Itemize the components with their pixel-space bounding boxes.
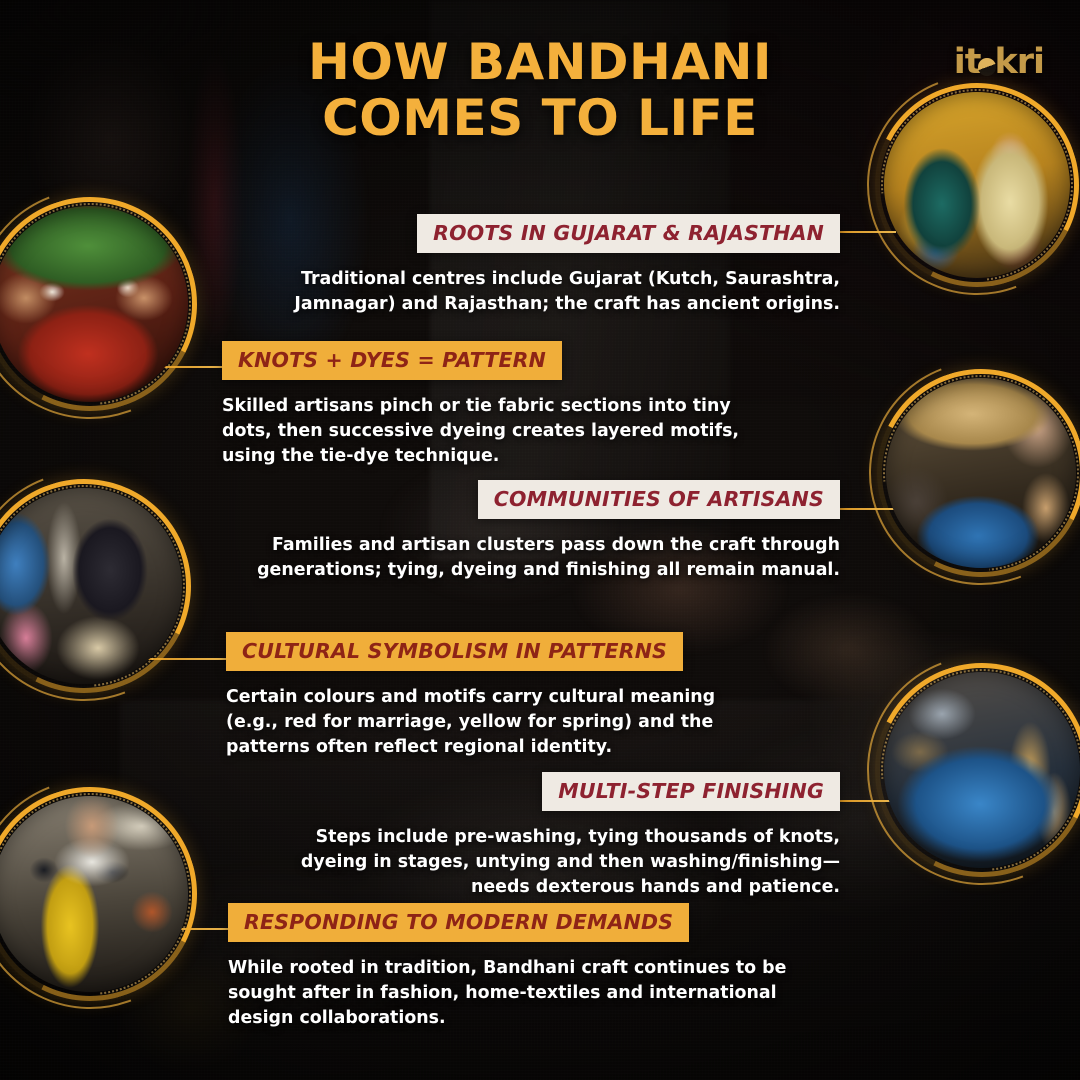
section-heading-row: COMMUNITIES OF ARTISANS [246,480,840,519]
section-heading-row: ROOTS IN GUJARAT & RAJASTHAN [256,214,840,253]
section-finishing: MULTI-STEP FINISHING Steps include pre-w… [296,772,840,901]
section-body-roots: Traditional centres include Gujarat (Kut… [256,267,840,317]
logo-circle-mark [978,58,996,76]
section-heading-row: RESPONDING TO MODERN DEMANDS [228,903,788,942]
section-heading-row: MULTI-STEP FINISHING [296,772,840,811]
section-heading-communities: COMMUNITIES OF ARTISANS [478,480,840,519]
section-symbolism: CULTURAL SYMBOLISM IN PATTERNS Certain c… [226,632,766,761]
section-body-knots-dyes: Skilled artisans pinch or tie fabric sec… [222,394,754,470]
section-heading-row: KNOTS + DYES = PATTERN [222,341,754,380]
photo-women-tying-knots [884,92,1070,278]
section-heading-row: CULTURAL SYMBOLISM IN PATTERNS [226,632,766,671]
section-knots-dyes: KNOTS + DYES = PATTERN Skilled artisans … [222,341,754,470]
photo-blue-dye-vat [884,672,1080,868]
section-heading-roots: ROOTS IN GUJARAT & RAJASTHAN [417,214,840,253]
section-roots: ROOTS IN GUJARAT & RAJASTHAN Traditional… [256,214,840,317]
section-body-symbolism: Certain colours and motifs carry cultura… [226,685,766,761]
section-body-finishing: Steps include pre-washing, tying thousan… [296,825,840,901]
photo-hands-tying-red-fabric [0,206,188,402]
photo-women-with-beige-fabric [0,488,182,684]
section-body-modern-demands: While rooted in tradition, Bandhani craf… [228,956,788,1032]
section-modern-demands: RESPONDING TO MODERN DEMANDS While roote… [228,903,788,1032]
infographic-canvas: HOW BANDHANI COMES TO LIFE itkri [0,0,1080,1080]
section-heading-knots-dyes: KNOTS + DYES = PATTERN [222,341,562,380]
title-line-1: HOW BANDHANI [308,33,772,91]
photo-artisan-dyeing-blue-tub [886,378,1076,568]
section-heading-symbolism: CULTURAL SYMBOLISM IN PATTERNS [226,632,683,671]
section-communities: COMMUNITIES OF ARTISANS Families and art… [246,480,840,583]
photo-artisan-lifting-yellow-fabric [0,796,188,992]
section-heading-finishing: MULTI-STEP FINISHING [542,772,840,811]
section-body-communities: Families and artisan clusters pass down … [246,533,840,583]
section-heading-modern-demands: RESPONDING TO MODERN DEMANDS [228,903,689,942]
